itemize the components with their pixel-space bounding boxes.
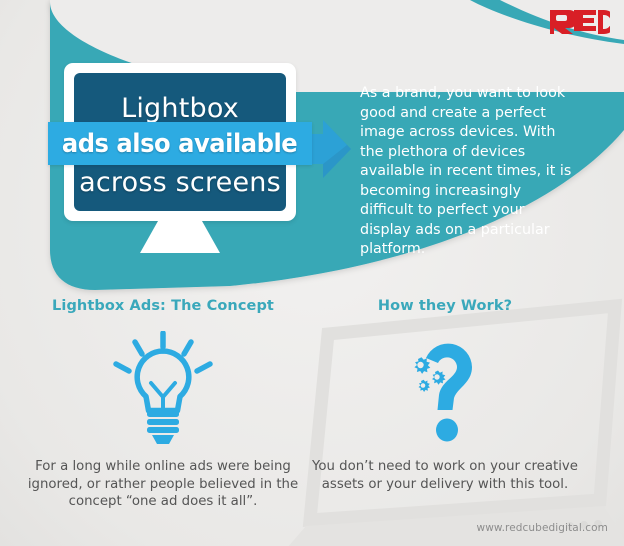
footer-url[interactable]: www.redcubedigital.com bbox=[477, 522, 609, 534]
section-heading-how: How they Work? bbox=[300, 298, 590, 314]
lightbulb-icon bbox=[109, 331, 217, 445]
section-heading-concept: Lightbox Ads: The Concept bbox=[18, 298, 308, 314]
infographic-canvas: Lightbox across screens ads also availab… bbox=[0, 0, 624, 546]
section-caption-how: You don’t need to work on your creative … bbox=[300, 458, 590, 493]
section-how-they-work: How they Work? You don’t need to work on… bbox=[300, 298, 590, 493]
question-icon-wrap bbox=[300, 328, 590, 448]
hero-title-line-1: Lightbox bbox=[74, 93, 286, 124]
red-logo bbox=[548, 7, 610, 37]
monitor-stand-icon bbox=[140, 221, 220, 257]
question-mark-gears-icon bbox=[395, 331, 495, 445]
section-lightbox-concept: Lightbox Ads: The Concept bbox=[18, 298, 308, 511]
hero-title-line-3: across screens bbox=[74, 167, 286, 198]
section-caption-concept: For a long while online ads were being i… bbox=[18, 458, 308, 511]
hero-paragraph: As a brand, you want to look good and cr… bbox=[360, 84, 575, 260]
hero-title-line-2: ads also available bbox=[62, 129, 297, 159]
hero-highlight-band: ads also available bbox=[48, 122, 312, 165]
lightbulb-icon-wrap bbox=[18, 328, 308, 448]
